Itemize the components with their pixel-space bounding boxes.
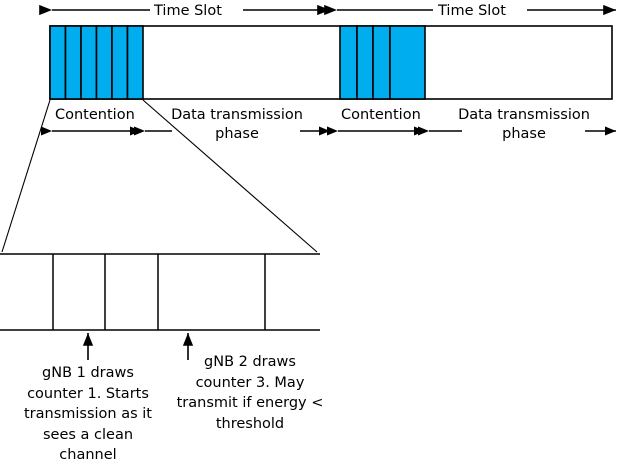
time-slot-label-left: Time Slot	[154, 2, 222, 20]
contention-block-2	[340, 26, 425, 99]
annotation-line: threshold	[170, 414, 330, 435]
annotation-line: channel	[6, 445, 170, 466]
contention-label-2: Contention	[341, 106, 421, 124]
detail-strip	[0, 254, 320, 330]
figure-canvas: Time Slot Time Slot Contention Data tran…	[0, 0, 620, 472]
annotation-line: gNB 2 draws	[170, 352, 330, 373]
data-phase-label-2: Data transmission phase	[457, 106, 591, 143]
contention-block-1	[50, 26, 143, 99]
annotation-line: gNB 1 draws	[6, 363, 170, 384]
annotation-line: sees a clean	[6, 425, 170, 446]
annotation-gnb2: gNB 2 draws counter 3. May transmit if e…	[170, 352, 330, 434]
annotation-line: counter 3. May	[170, 373, 330, 394]
data-phase-line2: phase	[170, 125, 304, 144]
data-phase-line1: Data transmission	[170, 106, 304, 125]
data-phase-line1: Data transmission	[457, 106, 591, 125]
annotation-gnb1: gNB 1 draws counter 1. Starts transmissi…	[6, 363, 170, 466]
data-phase-label-1: Data transmission phase	[170, 106, 304, 143]
annotation-line: transmission as it	[6, 404, 170, 425]
data-phase-line2: phase	[457, 125, 591, 144]
annotation-line: counter 1. Starts	[6, 384, 170, 405]
time-slot-label-right: Time Slot	[438, 2, 506, 20]
annotation-line: transmit if energy <	[170, 393, 330, 414]
contention-label-1: Contention	[55, 106, 135, 124]
